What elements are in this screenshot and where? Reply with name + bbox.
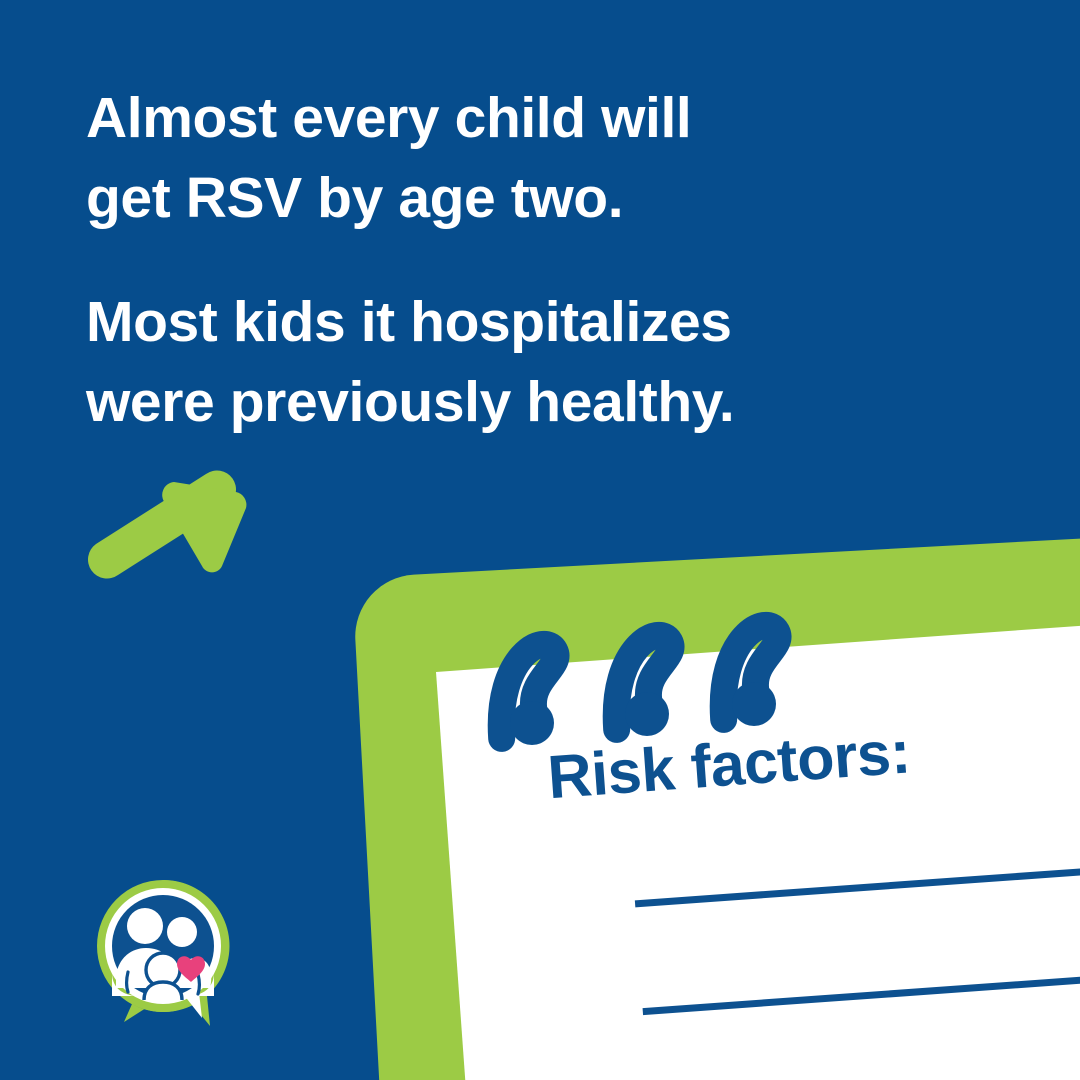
notepad-rule-line xyxy=(635,855,1080,908)
poster-canvas: Almost every child will get RSV by age t… xyxy=(0,0,1080,1080)
spiral-ring-2-bulb xyxy=(625,692,669,736)
spiral-ring-3-bulb xyxy=(732,682,776,726)
spiral-ring-1-bulb xyxy=(510,701,554,745)
notepad-rule-line xyxy=(643,962,1080,1015)
headline-paragraph-1: Almost every child will get RSV by age t… xyxy=(86,78,966,238)
logo-child-figure xyxy=(144,953,182,1000)
family-speech-bubble-logo xyxy=(88,876,238,1028)
headline-block: Almost every child will get RSV by age t… xyxy=(86,78,966,442)
arrow-up-right-icon xyxy=(78,468,258,588)
headline-paragraph-2: Most kids it hospitalizes were previousl… xyxy=(86,282,966,442)
notepad-spiral-rings xyxy=(470,600,810,770)
